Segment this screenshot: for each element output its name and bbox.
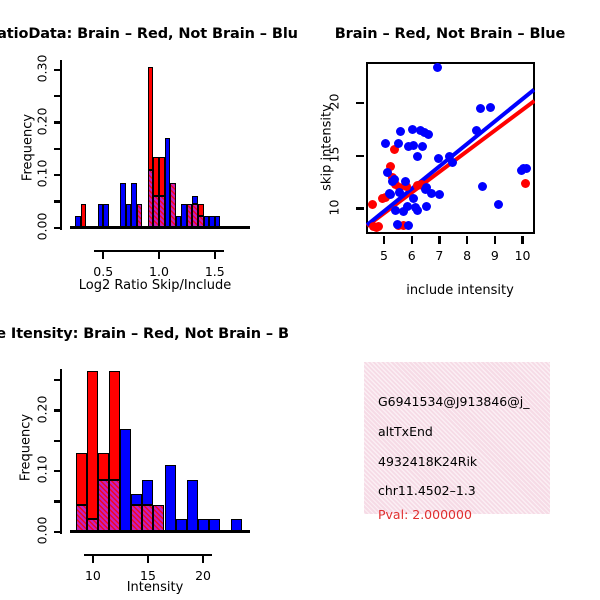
intensity-hist-bar-not-brain [187,480,198,532]
panel-scatter: Brain – Red, Not Brain – Blue skip inten… [300,0,600,300]
scatter-point-not-brain [476,104,485,113]
intensity-hist-bar-brain [109,371,120,480]
scatter-point-not-brain [381,139,390,148]
intensity-hist-bar-overlap [98,480,109,532]
scatter-x-axis-tick [411,236,413,244]
scatter-point-not-brain [486,103,495,112]
scatter-point-not-brain [409,194,418,203]
intensity-hist-bar-not-brain [131,494,142,504]
ratio-hist-y-axis-tick [54,69,62,71]
ratio-hist-y-axis-tick-label: 0.30 [35,46,50,90]
scatter-x-axis-tick-label: 10 [501,248,545,263]
intensity-hist-bar-overlap [142,505,153,532]
intensity-hist-y-axis-tick [54,379,62,381]
intensity-hist-bar-overlap [76,505,87,532]
ratio-hist-bar-not-brain [192,196,198,204]
intensity-hist-bar-brain [76,453,87,505]
ratio-hist-y-axis-tick [54,227,62,229]
ratio-hist-x-axis-tick-label: 0.5 [81,264,125,279]
ratio-hist-y-axis-tick [54,148,62,150]
ratio-hist-y-axis-tick [54,95,62,97]
ratio-hist-y-axis-tick-label: 0.10 [35,152,50,196]
ratio-hist-bar-brain [148,67,154,170]
scatter-point-not-brain [422,202,431,211]
scatter-x-axis-tick [494,236,496,244]
intensity-hist-x-axis-tick [92,554,94,563]
intensity-hist-bar-overlap [153,505,164,532]
gene-info-box: G6941534@J913846@j_ altTxEnd 4932418K24R… [364,362,550,514]
intensity-hist-bar-not-brain [165,465,176,532]
intensity-hist-y-axis-tick [54,409,62,411]
intensity-hist-bar-not-brain [142,480,153,504]
intensity-hist-bar-overlap [131,505,142,532]
ratio-hist-x-axis-tick [158,250,160,259]
scatter-plot-area: 5678910101520 [300,0,600,300]
scatter-point-not-brain [393,220,402,229]
intensity-hist-baseline [70,530,250,533]
scatter-point-not-brain [418,142,427,151]
intensity-hist-y-axis-tick-label: 0.00 [35,509,50,553]
gene-info-line-1: G6941534@J913846@j_ [378,394,529,409]
ratio-hist-bar-brain [81,204,87,228]
scatter-y-axis-tick-label: 10 [327,185,342,229]
scatter-point-not-brain [494,200,503,209]
intensity-hist-bar-brain [98,453,109,480]
ratio-hist-bar-brain [198,204,204,216]
panel-intensity-histogram: ne Itensity: Brain – Red, Not Brain – B … [0,300,300,600]
scatter-point-not-brain [522,164,531,173]
scatter-point-not-brain [396,127,405,136]
ratio-hist-y-axis-tick-label: 0.20 [35,99,50,143]
intensity-hist-x-axis-tick [147,554,149,563]
intensity-hist-y-axis-tick-label: 0.20 [35,387,50,431]
scatter-point-not-brain [435,190,444,199]
intensity-hist-bar-brain [87,371,98,519]
intensity-hist-y-axis-tick [54,500,62,502]
scatter-y-axis-tick [356,102,364,104]
scatter-point-not-brain [390,175,399,184]
ratio-hist-baseline [70,226,250,229]
intensity-hist-bar-overlap [109,480,120,532]
gene-info-line-3: 4932418K24Rik [378,454,477,469]
ratio-hist-x-axis-tick-label: 1.5 [193,264,237,279]
scatter-point-not-brain [413,206,422,215]
ratio-hist-y-axis-spine [60,60,62,230]
scatter-point-not-brain [404,221,413,230]
intensity-hist-y-axis-tick-label: 0.10 [35,448,50,492]
panel-ratio-histogram: RatioData: Brain – Red, Not Brain – Blu … [0,0,300,300]
intensity-hist-x-axis-tick-label: 20 [181,568,225,583]
gene-info-line-2: altTxEnd [378,424,433,439]
intensity-hist-bar-not-brain [120,429,131,532]
gene-info-line-4: chr11.4502–1.3 [378,483,476,498]
intensity-hist-y-axis-tick [54,440,62,442]
intensity-hist-y-axis-spine [60,369,62,534]
scatter-point-not-brain [478,182,487,191]
intensity-hist-x-axis-tick [202,554,204,563]
intensity-hist-y-axis-tick [54,470,62,472]
scatter-point-not-brain [394,139,403,148]
ratio-hist-x-axis-tick-label: 1.0 [137,264,181,279]
scatter-point-brain [521,179,530,188]
scatter-point-not-brain [448,158,457,167]
scatter-y-axis-tick [356,155,364,157]
ratio-hist-plot-area: 0.300.200.100.000.51.01.5 [0,0,300,300]
ratio-hist-y-axis-tick [54,200,62,202]
scatter-point-not-brain [413,152,422,161]
ratio-hist-y-axis-tick [54,174,62,176]
scatter-point-brain [374,222,383,231]
scatter-x-axis-tick [466,236,468,244]
scatter-point-not-brain [401,177,410,186]
scatter-point-brain [368,200,377,209]
intensity-hist-x-axis-tick-label: 10 [71,568,115,583]
scatter-x-axis-tick [521,236,523,244]
ratio-hist-x-axis-tick [214,250,216,259]
intensity-hist-x-axis-tick-label: 15 [126,568,170,583]
scatter-point-not-brain [433,63,442,72]
scatter-point-not-brain [434,154,443,163]
ratio-hist-x-axis-tick [102,250,104,259]
ratio-hist-bar-overlap [137,204,143,228]
intensity-hist-y-axis-tick [54,531,62,533]
scatter-point-not-brain [409,141,418,150]
scatter-point-not-brain [424,130,433,139]
intensity-hist-plot-area: 0.200.100.00101520 [0,300,300,600]
scatter-x-axis-tick [383,236,385,244]
scatter-y-axis-tick [356,207,364,209]
scatter-y-axis-tick-label: 20 [327,80,342,124]
scatter-clip [366,62,535,234]
scatter-y-axis-tick-label: 15 [327,132,342,176]
gene-info-pval: Pval: 2.000000 [378,507,472,522]
ratio-hist-y-axis-tick [54,121,62,123]
ratio-hist-bar-not-brain [103,204,109,228]
panel-gene-info: G6941534@J913846@j_ altTxEnd 4932418K24R… [300,300,600,600]
ratio-hist-y-axis-tick-label: 0.00 [35,205,50,249]
scatter-x-axis-tick [438,236,440,244]
